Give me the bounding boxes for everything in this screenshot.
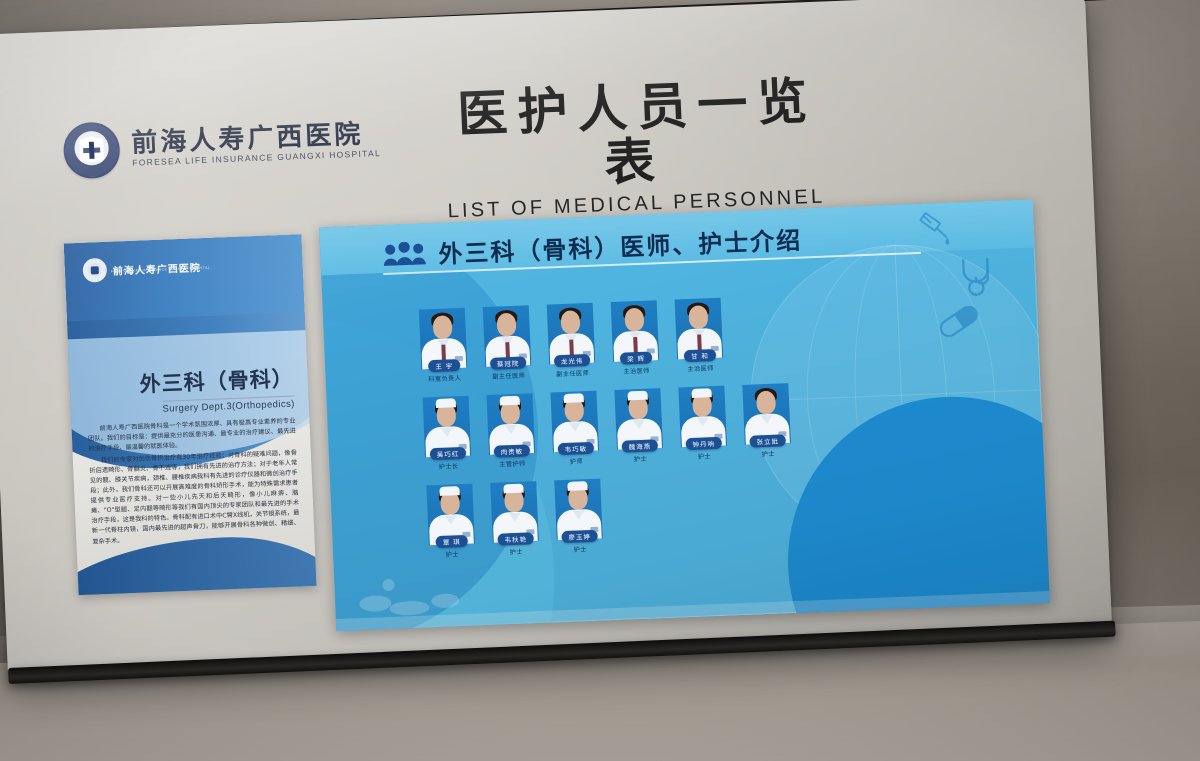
poster-crest-icon <box>82 258 107 283</box>
staff-role: 护师 <box>570 456 584 466</box>
face <box>756 391 776 415</box>
collar <box>697 417 709 426</box>
staff-role: 主治医师 <box>623 366 650 376</box>
collar <box>761 415 773 424</box>
nurse-cap-icon <box>691 388 711 398</box>
necktie <box>697 335 702 351</box>
staff-role: 护士 <box>634 454 648 464</box>
staff-card: 廖玉婷护士 <box>554 479 603 555</box>
staff-row: 吴巧红护士长肉贵敏主管护师韦巧敏护师魏海燕护士钟丹响护士张立妣护士 <box>423 375 1006 472</box>
staff-name: 肉贵敏 <box>493 444 530 457</box>
staff-card: 龙光伟副主任医师 <box>547 303 596 379</box>
group-of-people-icon <box>382 241 427 267</box>
department-poster: 前海人寿广西医院 FORESEA LIFE INSURANCE GUANGXI … <box>64 234 317 595</box>
face <box>497 313 517 337</box>
cross-glyph <box>89 142 95 159</box>
collar <box>573 510 585 519</box>
staff-role: 科室负责人 <box>428 373 461 383</box>
hospital-logo: 前海人寿广西医院 FORESEA LIFE INSURANCE GUANGXI … <box>63 111 382 179</box>
collar <box>509 513 521 522</box>
staff-card: 梁 辉主治医师 <box>611 300 660 376</box>
department-description: 前海人寿广西医院骨科是一个学术氛围浓厚、具有极高专业素养的专业团队。我们的目标是… <box>87 417 300 550</box>
staff-role: 主治医师 <box>687 363 714 373</box>
staff-role: 主管护师 <box>499 459 526 469</box>
face <box>624 308 644 332</box>
staff-card: 甘 和主治医师 <box>675 298 724 374</box>
staff-role: 护士 <box>761 449 775 459</box>
collar <box>505 425 517 434</box>
staff-name: 魏海燕 <box>621 439 658 452</box>
staff-card: 韦秋艳护士 <box>490 481 539 557</box>
staff-name: 覃 琪 <box>436 535 468 548</box>
face <box>688 305 708 329</box>
poster-department-title: 外三科（骨科） Surgery Dept.3(Orthopedics) <box>139 363 295 418</box>
staff-role: 副主任医师 <box>556 368 589 378</box>
collar <box>569 422 581 431</box>
necktie <box>441 345 446 361</box>
staff-role: 护士 <box>509 547 523 557</box>
staff-role: 护士 <box>698 451 712 461</box>
staff-role: 护士 <box>445 549 459 559</box>
staff-name: 张立妣 <box>749 434 786 447</box>
department-name-en: Surgery Dept.3(Orthopedics) <box>162 396 295 415</box>
staff-name: 韦巧敏 <box>557 442 594 455</box>
staff-role: 护士长 <box>438 461 458 471</box>
board-title-block: 医护人员一览表 LIST OF MEDICAL PERSONNEL <box>421 73 846 224</box>
staff-name: 韦秋艳 <box>497 532 534 545</box>
nurse-cap-icon <box>567 481 587 491</box>
staff-card: 吴巧红护士长 <box>423 396 472 472</box>
staff-grid: 王 宇科室负责人蔡冠院副主任医师龙光伟副主任医师梁 辉主治医师甘 和主治医师吴巧… <box>419 287 1010 574</box>
led-display-screen: 外三科（骨科）医师、护士介绍 王 宇科室负责人蔡冠院副主任医师龙光伟副主任医师梁… <box>319 199 1050 631</box>
staff-card: 肉贵敏主管护师 <box>487 393 536 469</box>
staff-role: 副主任医师 <box>492 370 525 380</box>
staff-name: 甘 和 <box>684 349 716 362</box>
medical-equipment-decor-icon <box>352 566 474 621</box>
necktie <box>505 342 510 358</box>
description-paragraph: 我们的专家对创伤骨折治疗有30年治疗经验；对骨科的疑难问题，像骨折后遗畸形、骨髓… <box>89 449 301 548</box>
department-name-cn: 外三科（骨科） <box>139 363 294 399</box>
staff-name: 龙光伟 <box>554 354 591 367</box>
nurse-cap-icon <box>500 396 520 406</box>
information-board: 前海人寿广西医院 FORESEA LIFE INSURANCE GUANGXI … <box>0 0 1112 674</box>
staff-card: 王 宇科室负责人 <box>419 308 468 384</box>
staff-name: 吴巧红 <box>429 447 466 460</box>
staff-card: 张立妣护士 <box>742 383 791 459</box>
staff-card: 韦巧敏护师 <box>550 391 599 467</box>
sign-board-assembly: 前海人寿广西医院 FORESEA LIFE INSURANCE GUANGXI … <box>0 0 1200 761</box>
necktie <box>633 337 638 353</box>
necktie <box>569 340 574 356</box>
nurse-cap-icon <box>564 393 584 403</box>
staff-name: 梁 辉 <box>620 351 652 364</box>
staff-name: 廖玉婷 <box>561 530 598 543</box>
staff-card: 魏海燕护士 <box>614 388 663 464</box>
staff-name: 钟丹响 <box>685 437 722 450</box>
face <box>560 310 580 334</box>
staff-row: 王 宇科室负责人蔡冠院副主任医师龙光伟副主任医师梁 辉主治医师甘 和主治医师 <box>419 287 1002 384</box>
staff-name: 王 宇 <box>428 359 460 372</box>
staff-card: 钟丹响护士 <box>678 386 727 462</box>
syringe-icon <box>915 210 957 252</box>
nurse-cap-icon <box>503 484 523 494</box>
staff-row: 覃 琪护士韦秋艳护士廖玉婷护士 <box>426 463 1009 560</box>
collar <box>633 420 645 429</box>
collar <box>441 427 453 436</box>
hospital-crest-icon <box>63 121 121 179</box>
hospital-logo-text: 前海人寿广西医院 FORESEA LIFE INSURANCE GUANGXI … <box>131 120 381 168</box>
staff-card: 蔡冠院副主任医师 <box>483 305 532 381</box>
staff-name: 蔡冠院 <box>490 356 527 369</box>
staff-role: 护士 <box>573 544 587 554</box>
nurse-cap-icon <box>436 398 456 408</box>
nurse-cap-icon <box>439 486 459 496</box>
face <box>433 315 453 339</box>
staff-card: 覃 琪护士 <box>426 484 475 560</box>
board-title-cn: 医护人员一览表 <box>421 73 845 197</box>
collar <box>445 515 457 524</box>
nurse-cap-icon <box>627 391 647 401</box>
